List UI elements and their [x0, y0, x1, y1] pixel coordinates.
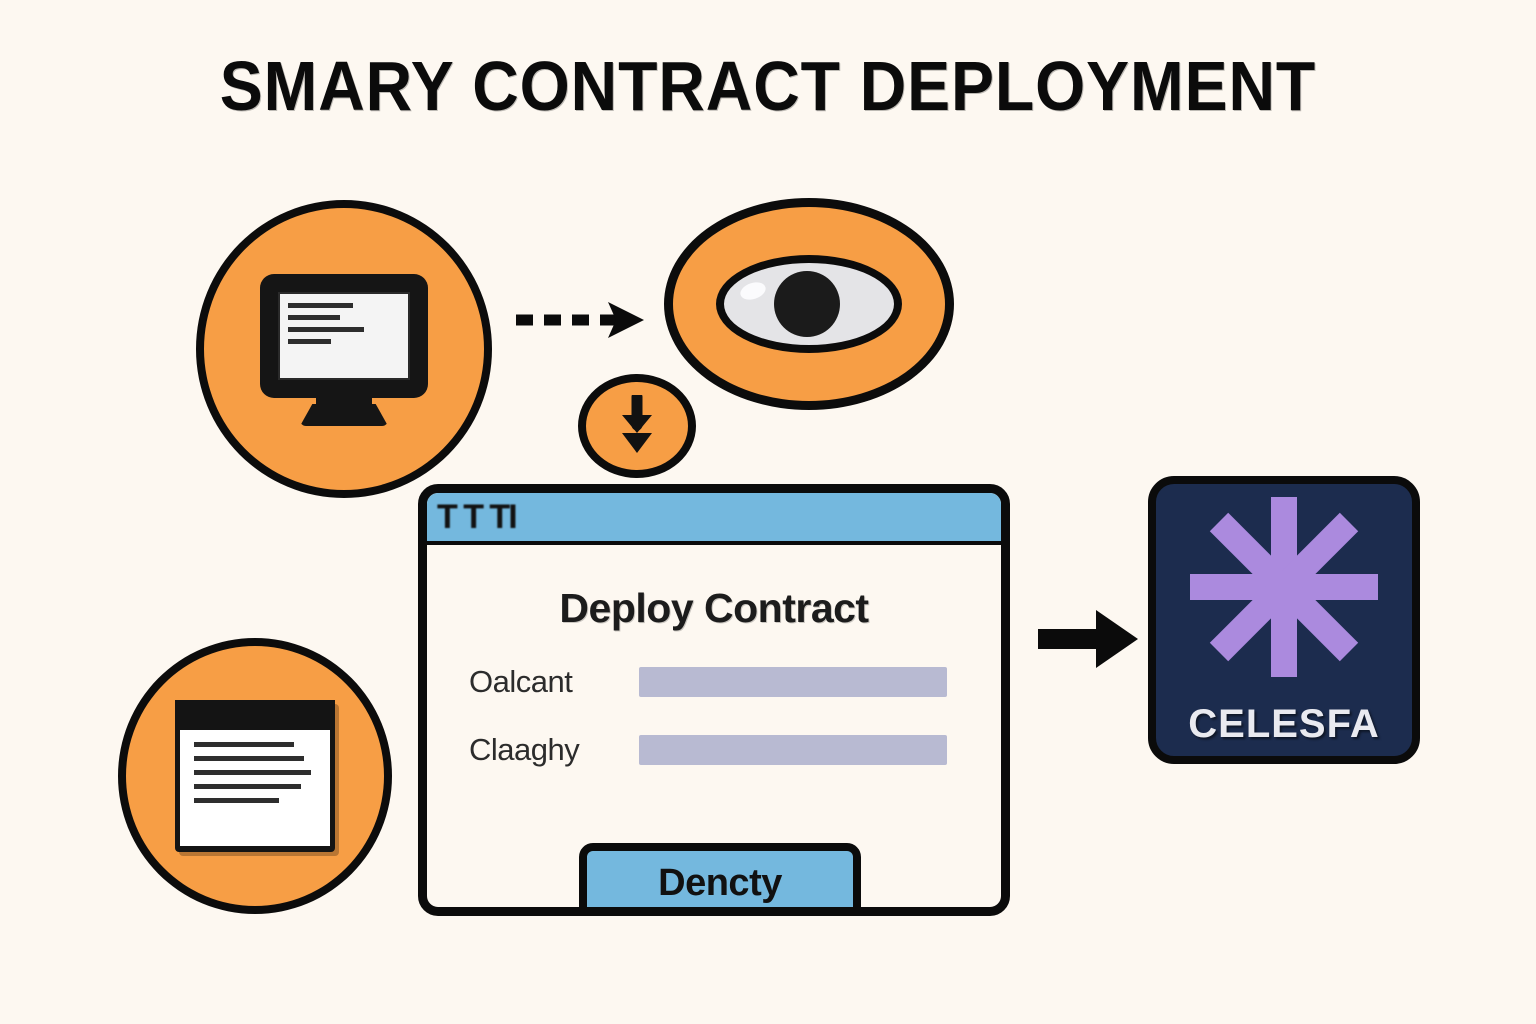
monitor-screen	[278, 292, 410, 380]
document-page	[180, 730, 330, 846]
document-titlebar	[175, 700, 335, 728]
node-download[interactable]	[578, 374, 696, 478]
celesfa-badge[interactable]: CELESFA	[1148, 476, 1420, 764]
dashed-right-arrow-icon	[512, 296, 652, 342]
deploy-button[interactable]: Dencty	[579, 843, 861, 916]
form-row: Oalcant	[427, 664, 1001, 700]
badge-label: CELESFA	[1188, 702, 1379, 747]
document-icon	[175, 700, 335, 852]
eye-highlight	[738, 279, 768, 302]
download-arrow-icon	[611, 395, 663, 457]
text-line	[194, 742, 294, 747]
page-title: SMARY CONTRACT DEPLOYMENT	[61, 46, 1474, 126]
eye-icon	[716, 255, 902, 353]
dialog-titlebar[interactable]: T T TI	[427, 493, 1001, 545]
asterisk-star-icon	[1176, 487, 1392, 692]
field-label-claaghy: Claaghy	[469, 732, 639, 768]
eye-pupil	[774, 271, 840, 337]
code-line	[288, 339, 331, 344]
node-document[interactable]	[118, 638, 392, 914]
deploy-contract-dialog[interactable]: T T TI Deploy Contract Oalcant Claaghy D…	[418, 484, 1010, 916]
diagram-canvas: SMARY CONTRACT DEPLOYMENT	[0, 0, 1536, 1024]
titlebar-glyphs: T T TI	[437, 500, 516, 534]
code-line	[288, 315, 340, 320]
text-line	[194, 798, 279, 803]
node-code-editor[interactable]	[196, 200, 492, 498]
form-row: Claaghy	[427, 732, 1001, 768]
text-line	[194, 756, 304, 761]
dialog-heading: Deploy Contract	[427, 585, 1001, 632]
dialog-body: Deploy Contract Oalcant Claaghy Dencty	[427, 545, 1001, 916]
field-input-oalcant[interactable]	[639, 667, 947, 697]
node-review[interactable]	[664, 198, 954, 410]
monitor-icon	[260, 274, 428, 424]
code-line	[288, 303, 353, 308]
text-line	[194, 770, 311, 775]
code-line	[288, 327, 364, 332]
text-line	[194, 784, 301, 789]
field-input-claaghy[interactable]	[639, 735, 947, 765]
monitor-stand	[300, 404, 388, 426]
right-arrow-icon	[1034, 604, 1144, 674]
field-label-oalcant: Oalcant	[469, 664, 639, 700]
